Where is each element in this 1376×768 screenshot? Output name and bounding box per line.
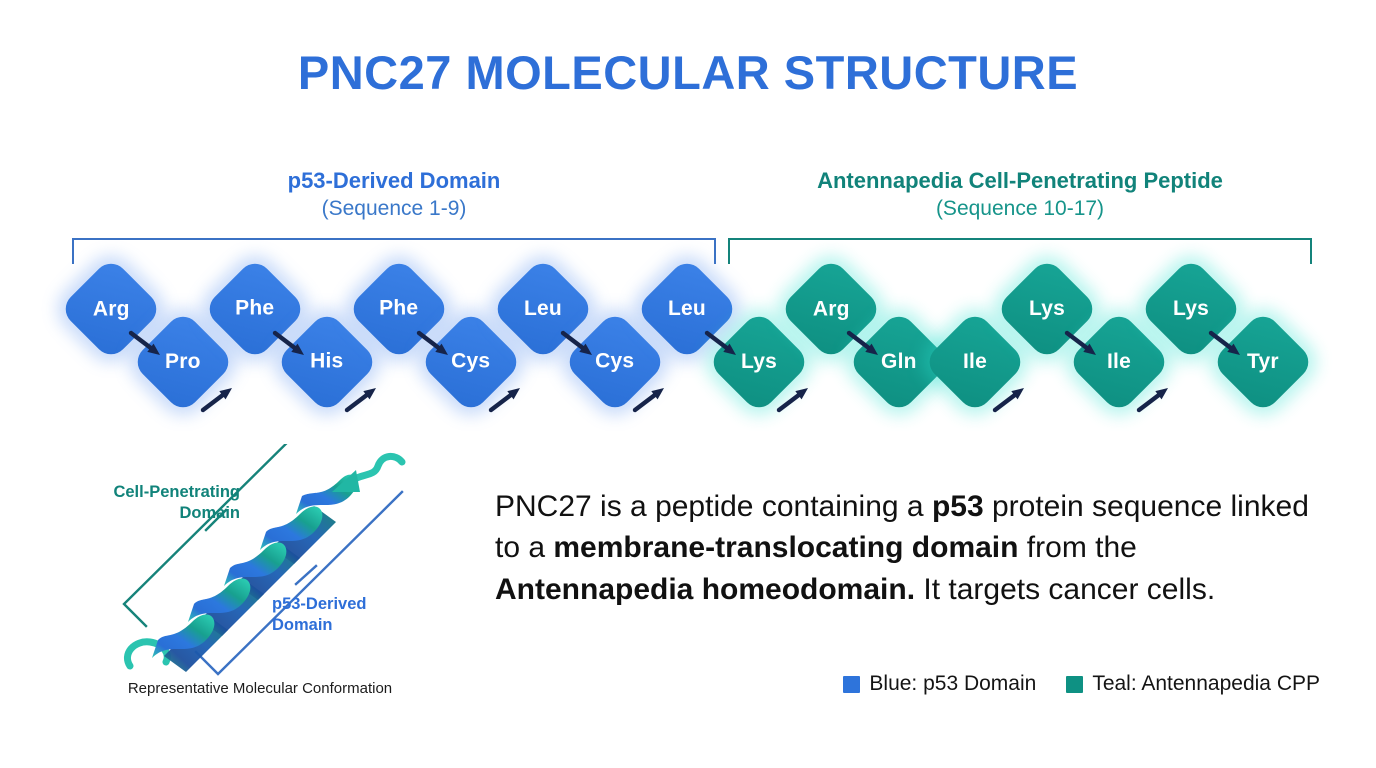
legend: Blue: p53 Domain Teal: Antennapedia CPP	[780, 672, 1320, 696]
poster-canvas: PNC27 MOLECULAR STRUCTURE p53-Derived Do…	[0, 0, 1376, 768]
residue-label: Lys	[1029, 297, 1065, 321]
legend-swatch-teal	[1066, 676, 1083, 693]
description-paragraph: PNC27 is a peptide containing a p53 prot…	[495, 486, 1315, 610]
domain-bracket-cpp	[728, 238, 1312, 264]
para-text-4: It targets cancer cells.	[915, 573, 1215, 606]
residue-label: Pro	[165, 350, 201, 374]
sequence-arrow-16-to-17	[1204, 323, 1250, 367]
residue-label: Leu	[524, 297, 562, 321]
domain-name-cpp: Antennapedia Cell-Penetrating Peptide	[728, 167, 1312, 195]
domain-header-cpp: Antennapedia Cell-Penetrating Peptide (S…	[728, 167, 1312, 223]
domain-name-p53: p53-Derived Domain	[72, 167, 716, 195]
sequence-arrow-4-to-5	[340, 376, 386, 420]
residue-label: Lys	[1173, 297, 1209, 321]
legend-item-blue: Blue: p53 Domain	[843, 672, 1036, 696]
para-text-1: PNC27 is a peptide containing a	[495, 490, 932, 523]
para-bold-antennapedia: Antennapedia homeodomain.	[495, 573, 915, 606]
sequence-arrow-15-to-16	[1132, 376, 1178, 420]
sequence-arrow-3-to-4	[268, 323, 314, 367]
sequence-arrow-5-to-6	[412, 323, 458, 367]
residue-label: Arg	[813, 297, 850, 321]
sequence-arrow-1-to-2	[124, 323, 170, 367]
sequence-arrow-13-to-14	[988, 376, 1034, 420]
domain-range-p53: (Sequence 1-9)	[72, 195, 716, 223]
peptide-sequence-chain: ArgProPheHisPheCysLeuCysLeuLysArgGlnIleL…	[0, 270, 1376, 415]
helix-label-cell-penetrating: Cell-Penetrating Domain	[68, 482, 240, 523]
helix-caption: Representative Molecular Conformation	[60, 680, 460, 697]
residue-label: Phe	[379, 297, 418, 321]
sequence-arrow-2-to-3	[196, 376, 242, 420]
para-bold-membrane: membrane-translocating domain	[553, 531, 1018, 564]
para-bold-p53: p53	[932, 490, 984, 523]
residue-label: Tyr	[1247, 350, 1279, 374]
domain-header-p53: p53-Derived Domain (Sequence 1-9)	[72, 167, 716, 223]
para-text-3: from the	[1018, 531, 1136, 564]
residue-label: Ile	[1107, 350, 1131, 374]
page-title: PNC27 MOLECULAR STRUCTURE	[0, 48, 1376, 97]
residue-label: Arg	[93, 297, 130, 321]
legend-label-teal: Teal: Antennapedia CPP	[1092, 672, 1320, 696]
sequence-arrow-14-to-15	[1060, 323, 1106, 367]
sequence-arrow-7-to-8	[556, 323, 602, 367]
residue-label: Phe	[235, 297, 274, 321]
sequence-arrow-6-to-7	[484, 376, 530, 420]
helix-illustration-panel: Cell-Penetrating Domain p53-Derived Doma…	[60, 444, 460, 714]
sequence-arrow-11-to-12	[842, 323, 888, 367]
residue-label: Lys	[741, 350, 777, 374]
legend-label-blue: Blue: p53 Domain	[869, 672, 1036, 696]
sequence-arrow-9-to-10	[700, 323, 746, 367]
residue-label: Leu	[668, 297, 706, 321]
alpha-helix-icon	[60, 444, 460, 680]
domain-bracket-p53	[72, 238, 716, 264]
sequence-arrow-10-to-11	[772, 376, 818, 420]
legend-swatch-blue	[843, 676, 860, 693]
helix-label-p53-derived: p53-Derived Domain	[272, 594, 418, 635]
domain-range-cpp: (Sequence 10-17)	[728, 195, 1312, 223]
residue-label: His	[310, 350, 343, 374]
residue-label: Ile	[963, 350, 987, 374]
sequence-arrow-8-to-9	[628, 376, 674, 420]
legend-item-teal: Teal: Antennapedia CPP	[1066, 672, 1320, 696]
